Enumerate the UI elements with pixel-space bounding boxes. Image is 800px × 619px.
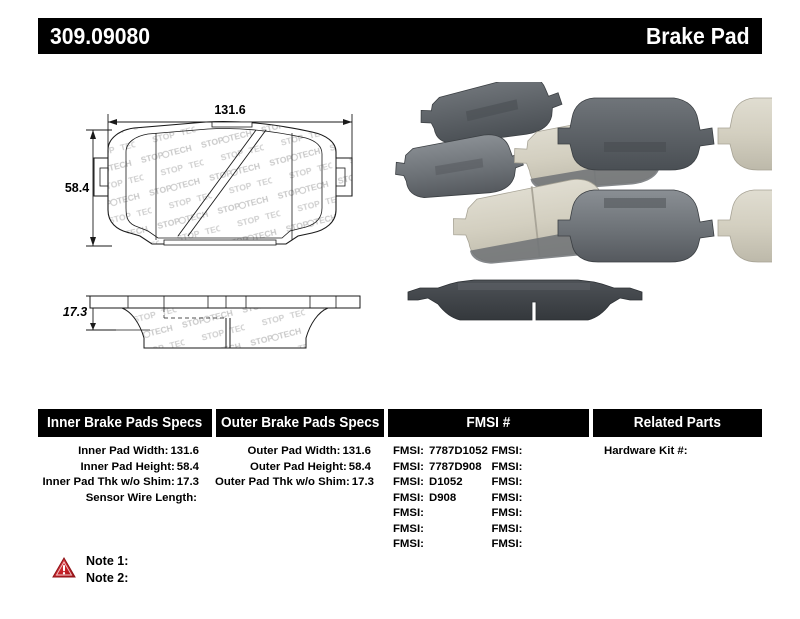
note-line-2: Note 2: bbox=[86, 570, 128, 587]
spec-label: Outer Pad Width: bbox=[248, 445, 341, 457]
spec-value: 58.4 bbox=[347, 461, 371, 473]
fmsi-row: FMSI: bbox=[393, 522, 492, 538]
spec-row: Inner Pad Thk w/o Shim:17.3 bbox=[38, 475, 211, 491]
spec-value: 17.3 bbox=[350, 476, 374, 488]
fmsi-value bbox=[522, 523, 527, 535]
fmsi-label: FMSI: bbox=[491, 492, 522, 504]
fmsi-value bbox=[522, 507, 527, 519]
header-inner-label: Inner Brake Pads Specs bbox=[47, 415, 202, 431]
fmsi-value bbox=[522, 538, 527, 550]
cell-inner-specs: Inner Pad Width:131.6 Inner Pad Height:5… bbox=[38, 444, 211, 553]
notes-section: Note 1: Note 2: bbox=[52, 553, 128, 587]
spec-value bbox=[197, 492, 199, 504]
fmsi-label: FMSI: bbox=[393, 445, 424, 457]
related-part-label: Hardware Kit #: bbox=[604, 445, 688, 457]
product-type-title: Brake Pad bbox=[646, 23, 750, 50]
spec-value: 131.6 bbox=[340, 445, 371, 457]
fmsi-value bbox=[424, 538, 429, 550]
pad-photo-dark-lower bbox=[392, 131, 525, 202]
fmsi-label: FMSI: bbox=[393, 523, 424, 535]
note-text-block: Note 1: Note 2: bbox=[86, 553, 128, 587]
spec-value: 17.3 bbox=[175, 476, 199, 488]
fmsi-label: FMSI: bbox=[491, 507, 522, 519]
fmsi-row: FMSI: bbox=[393, 537, 492, 553]
fmsi-value bbox=[522, 476, 527, 488]
table-header-row: Inner Brake Pads Specs Outer Brake Pads … bbox=[38, 409, 762, 437]
height-dimension-label: 58.4 bbox=[65, 181, 89, 195]
fmsi-value bbox=[522, 445, 527, 457]
spec-label: Inner Pad Width: bbox=[78, 445, 168, 457]
spec-label: Outer Pad Thk w/o Shim: bbox=[215, 476, 350, 488]
fmsi-label: FMSI: bbox=[491, 445, 522, 457]
pad-photo-edge-view bbox=[408, 280, 642, 320]
fmsi-row: FMSI: bbox=[491, 460, 590, 476]
pad-photo-flat-ceramic-2 bbox=[718, 190, 772, 262]
fmsi-label: FMSI: bbox=[491, 538, 522, 550]
fmsi-value bbox=[424, 523, 429, 535]
fmsi-row: FMSI: bbox=[491, 475, 590, 491]
spec-label: Outer Pad Height: bbox=[250, 461, 347, 473]
fmsi-label: FMSI: bbox=[393, 538, 424, 550]
header-fmsi-label: FMSI # bbox=[467, 415, 511, 431]
fmsi-value bbox=[522, 461, 527, 473]
fmsi-value bbox=[424, 507, 429, 519]
spec-row: Outer Pad Width:131.6 bbox=[215, 444, 383, 460]
fmsi-column-right: FMSI: FMSI: FMSI: FMSI: FMSI: bbox=[491, 444, 590, 553]
spec-row: Inner Pad Width:131.6 bbox=[38, 444, 211, 460]
fmsi-row: FMSI: bbox=[491, 537, 590, 553]
header-fmsi: FMSI # bbox=[388, 409, 590, 437]
fmsi-value bbox=[522, 492, 527, 504]
note-line-1: Note 1: bbox=[86, 553, 128, 570]
fmsi-value: 7787D908 bbox=[424, 461, 482, 473]
table-body-row: Inner Pad Width:131.6 Inner Pad Height:5… bbox=[38, 437, 762, 553]
cell-related-parts: Hardware Kit #: bbox=[594, 444, 762, 553]
spec-label: Inner Pad Thk w/o Shim: bbox=[43, 476, 175, 488]
fmsi-label: FMSI: bbox=[491, 476, 522, 488]
header-inner-brake-pads-specs: Inner Brake Pads Specs bbox=[38, 409, 212, 437]
spec-row: Inner Pad Height:58.4 bbox=[38, 460, 211, 476]
cell-fmsi: FMSI:7787D1052 FMSI:7787D908 FMSI:D1052 … bbox=[387, 444, 590, 553]
thickness-dimension-label: 17.3 bbox=[63, 305, 87, 319]
spec-label: Inner Pad Height: bbox=[81, 461, 175, 473]
product-photos bbox=[392, 82, 772, 352]
fmsi-row: FMSI: bbox=[393, 506, 492, 522]
fmsi-label: FMSI: bbox=[393, 476, 424, 488]
fmsi-row: FMSI:7787D908 bbox=[393, 460, 492, 476]
header-related-label: Related Parts bbox=[634, 415, 721, 431]
fmsi-label: FMSI: bbox=[491, 461, 522, 473]
pad-front-view bbox=[94, 114, 360, 254]
technical-drawing: STOP TECH STOP TECH 131.6 bbox=[60, 100, 390, 360]
related-part-row: Hardware Kit #: bbox=[594, 444, 762, 460]
width-dimension-label: 131.6 bbox=[214, 103, 245, 117]
header-outer-brake-pads-specs: Outer Brake Pads Specs bbox=[216, 409, 384, 437]
fmsi-row: FMSI: bbox=[491, 444, 590, 460]
spec-label: Sensor Wire Length: bbox=[86, 492, 197, 504]
fmsi-row: FMSI: bbox=[491, 491, 590, 507]
fmsi-label: FMSI: bbox=[491, 523, 522, 535]
header-outer-label: Outer Brake Pads Specs bbox=[221, 415, 379, 431]
fmsi-row: FMSI:D908 bbox=[393, 491, 492, 507]
brake-pad-drawing-svg: STOP TECH STOP TECH 131.6 bbox=[60, 100, 390, 360]
spec-value: 131.6 bbox=[168, 445, 199, 457]
pad-photo-flat-ceramic-1 bbox=[718, 98, 772, 170]
fmsi-value: D1052 bbox=[424, 476, 463, 488]
fmsi-value: 7787D1052 bbox=[424, 445, 488, 457]
part-number: 309.09080 bbox=[50, 23, 150, 50]
product-photo-svg bbox=[392, 82, 772, 352]
spec-row: Sensor Wire Length: bbox=[38, 491, 211, 507]
fmsi-column-left: FMSI:7787D1052 FMSI:7787D908 FMSI:D1052 … bbox=[393, 444, 492, 553]
fmsi-row: FMSI:7787D1052 bbox=[393, 444, 492, 460]
fmsi-label: FMSI: bbox=[393, 492, 424, 504]
spec-value: 58.4 bbox=[175, 461, 199, 473]
fmsi-row: FMSI:D1052 bbox=[393, 475, 492, 491]
spec-row: Outer Pad Height:58.4 bbox=[215, 460, 383, 476]
fmsi-label: FMSI: bbox=[393, 461, 424, 473]
cell-outer-specs: Outer Pad Width:131.6 Outer Pad Height:5… bbox=[215, 444, 383, 553]
pad-side-view bbox=[88, 292, 364, 352]
fmsi-row: FMSI: bbox=[491, 522, 590, 538]
header-bar: 309.09080 Brake Pad bbox=[38, 18, 762, 54]
fmsi-value: D908 bbox=[424, 492, 456, 504]
spec-row: Outer Pad Thk w/o Shim:17.3 bbox=[215, 475, 383, 491]
pad-photo-flat-dark-2 bbox=[558, 190, 714, 262]
pad-photo-flat-dark-1 bbox=[558, 98, 714, 170]
fmsi-label: FMSI: bbox=[393, 507, 424, 519]
warning-triangle-icon bbox=[52, 557, 76, 583]
specifications-table: Inner Brake Pads Specs Outer Brake Pads … bbox=[38, 409, 762, 553]
header-related-parts: Related Parts bbox=[593, 409, 762, 437]
fmsi-row: FMSI: bbox=[491, 506, 590, 522]
